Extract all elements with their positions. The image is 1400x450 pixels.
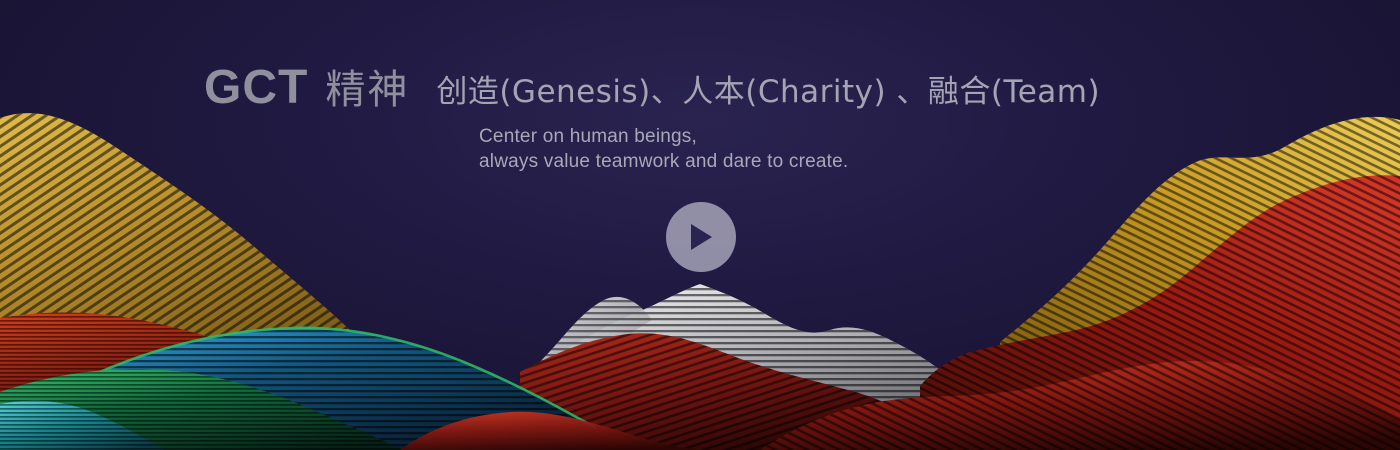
play-triangle-icon — [687, 222, 715, 252]
hero-banner: GCT 精神 创造(Genesis)、人本(Charity) 、融合(Team)… — [0, 0, 1400, 450]
headline-slogan: 创造(Genesis)、人本(Charity) 、融合(Team) — [436, 72, 1100, 112]
brand-logo-cn: 精神 — [325, 68, 409, 112]
hero-copy: GCT 精神 创造(Genesis)、人本(Charity) 、融合(Team)… — [204, 58, 1204, 174]
subtitle-line-1: Center on human beings, — [479, 124, 1204, 149]
subtitle-block: Center on human beings, always value tea… — [479, 124, 1204, 174]
brand-logo-latin: GCT — [204, 64, 308, 112]
subtitle-line-2: always value teamwork and dare to create… — [479, 149, 1204, 174]
headline-row: GCT 精神 创造(Genesis)、人本(Charity) 、融合(Team) — [204, 58, 1204, 112]
play-button[interactable] — [666, 202, 736, 272]
